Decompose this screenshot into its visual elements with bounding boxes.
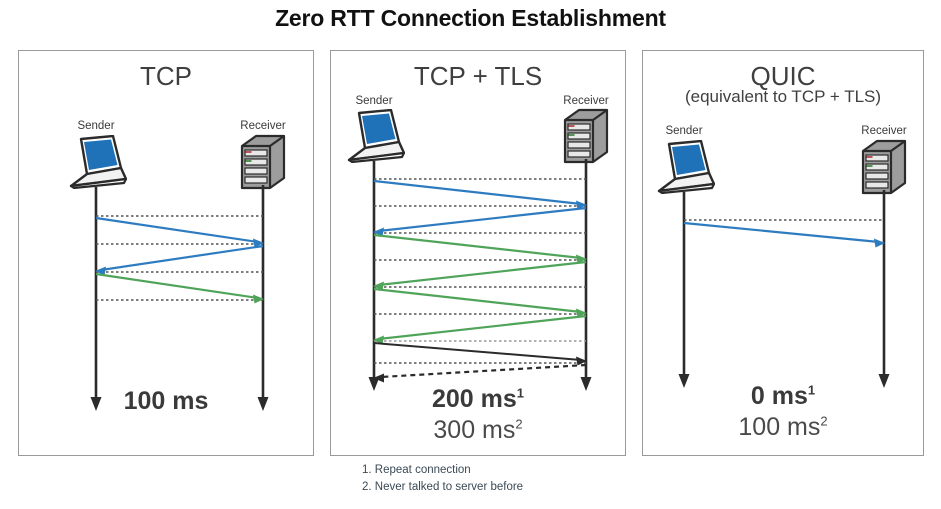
- panel-tcp-tls: TCP + TLS Sender Receiver: [330, 50, 626, 456]
- panel-tcp: TCP Sender Receiver: [18, 50, 314, 456]
- panel-tcp-timing: 100 ms: [19, 387, 313, 416]
- diagram-root: Zero RTT Connection Establishment TCP Se…: [0, 0, 941, 509]
- panel-quic-timing-primary-sup: 1: [808, 383, 815, 398]
- panel-quic-timing: 0 ms1 100 ms2: [643, 382, 923, 442]
- page-title: Zero RTT Connection Establishment: [0, 5, 941, 32]
- panel-tls-timing-secondary: 300 ms: [433, 416, 515, 444]
- panel-tcp-timing-primary: 100 ms: [124, 387, 209, 415]
- panel-tls-timing-primary-sup: 1: [517, 386, 524, 401]
- footnote-1: 1. Repeat connection: [362, 462, 523, 479]
- panel-quic-timing-primary: 0 ms: [751, 382, 808, 410]
- panel-quic-timing-secondary: 100 ms: [738, 413, 820, 441]
- panel-tls-timing-secondary-sup: 2: [515, 417, 522, 432]
- footnotes: 1. Repeat connection 2. Never talked to …: [362, 462, 523, 495]
- panel-quic-timing-secondary-sup: 2: [820, 414, 827, 429]
- panel-tls-timing-primary: 200 ms: [432, 385, 517, 413]
- panel-quic: QUIC (equivalent to TCP + TLS) Sender Re…: [642, 50, 924, 456]
- panel-tls-timing: 200 ms1 300 ms2: [331, 385, 625, 445]
- footnote-2: 2. Never talked to server before: [362, 479, 523, 496]
